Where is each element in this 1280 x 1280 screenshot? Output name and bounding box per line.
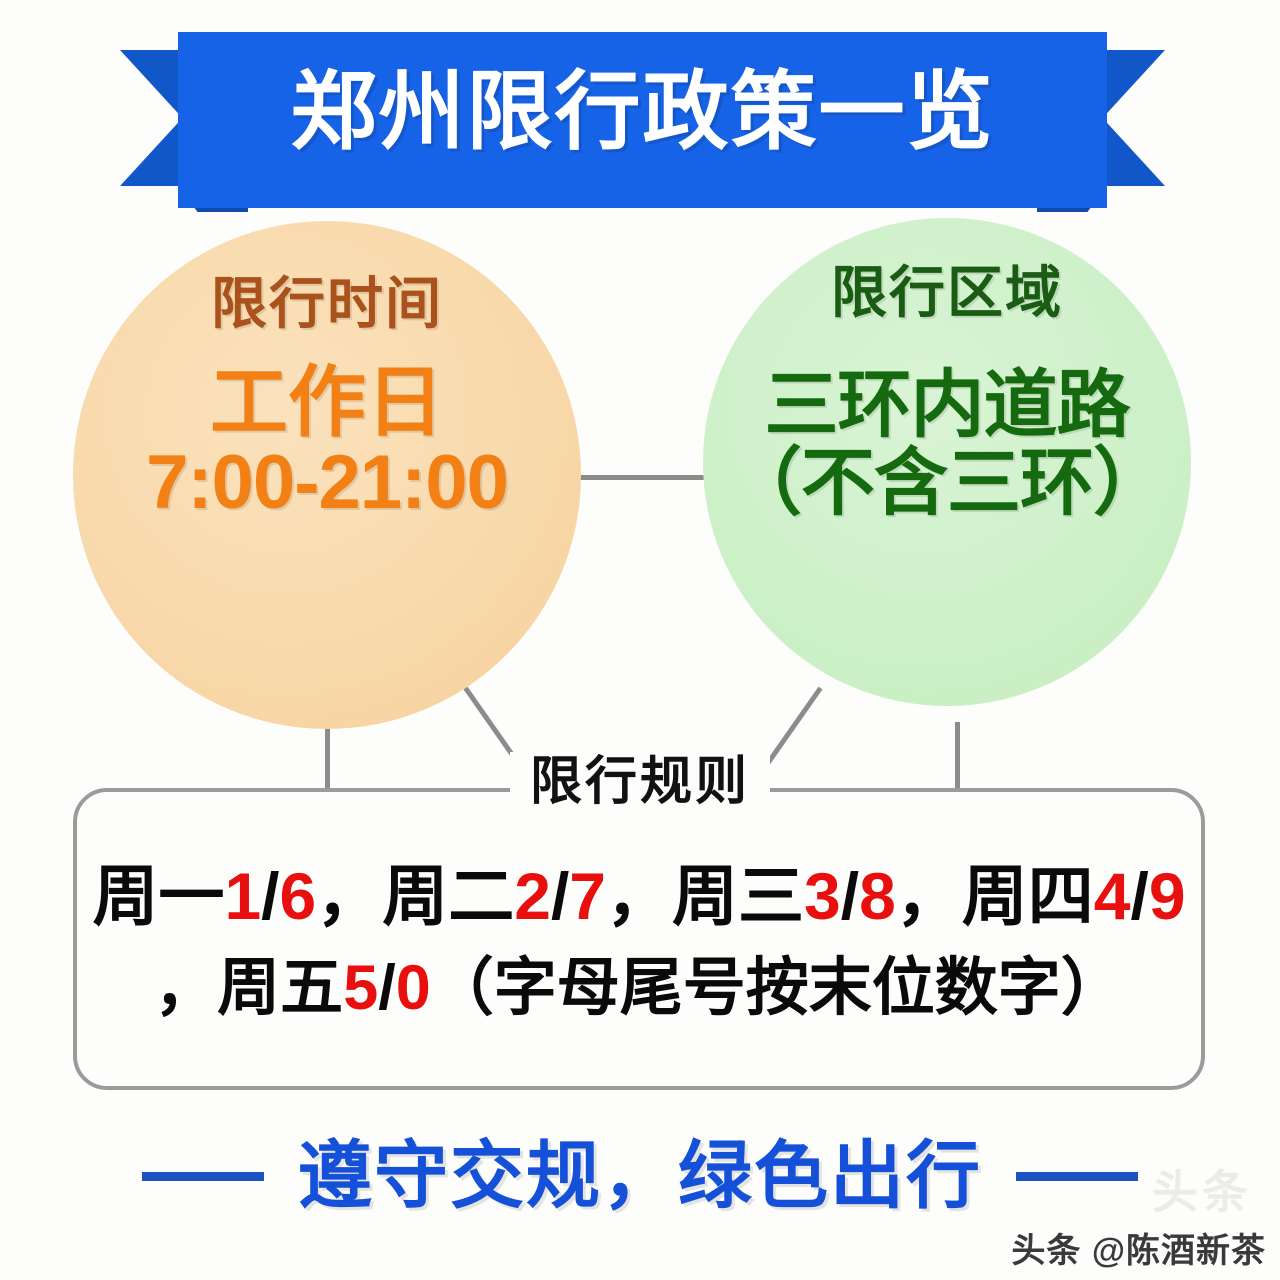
rules-line-2: ，周五5/0（字母尾号按末位数字） xyxy=(73,944,1205,1033)
node-time-heading: 限行时间 xyxy=(211,273,443,335)
slogan-dash-left xyxy=(142,1172,264,1181)
page-title: 郑州限行政策一览 xyxy=(178,32,1107,208)
slogan-dash-right xyxy=(1016,1172,1138,1181)
title-ribbon: 郑州限行政策一览 xyxy=(120,32,1165,204)
node-area-value-roads: 三环内道路 xyxy=(765,363,1130,446)
watermark: 头条 @陈酒新茶 xyxy=(1011,1234,1266,1268)
node-restriction-area: 限行区域 三环内道路 （不含三环） xyxy=(703,218,1191,706)
connector-area-to-rules-stem xyxy=(955,722,960,790)
node-area-heading: 限行区域 xyxy=(831,262,1063,324)
footer-slogan: 遵守交规，绿色出行 xyxy=(298,1139,982,1213)
node-time-value-weekday: 工作日 xyxy=(210,358,444,446)
node-area-value-exclusion: （不含三环） xyxy=(728,444,1166,522)
connector-time-to-rules-stem xyxy=(325,722,330,790)
rules-line-1: 周一1/6，周二2/7，周三3/8，周四4/9 xyxy=(73,850,1205,944)
node-restriction-time: 限行时间 工作日 7:00-21:00 xyxy=(73,221,581,729)
footer-slogan-row: 遵守交规，绿色出行 xyxy=(0,1128,1280,1224)
rules-label: 限行规则 xyxy=(510,752,770,814)
node-time-body: 工作日 7:00-21:00 xyxy=(146,361,508,524)
rules-content: 周一1/6，周二2/7，周三3/8，周四4/9 ，周五5/0（字母尾号按末位数字… xyxy=(73,850,1205,1033)
node-time-value-hours: 7:00-21:00 xyxy=(146,443,508,524)
infographic-canvas: 郑州限行政策一览 限行时间 工作日 7:00-21:00 限行区域 三环内道路 … xyxy=(0,0,1280,1280)
watermark-ghost: 头条 xyxy=(1152,1156,1252,1222)
connector-circles-horizontal xyxy=(580,475,708,480)
node-area-body: 三环内道路 （不含三环） xyxy=(728,366,1166,523)
